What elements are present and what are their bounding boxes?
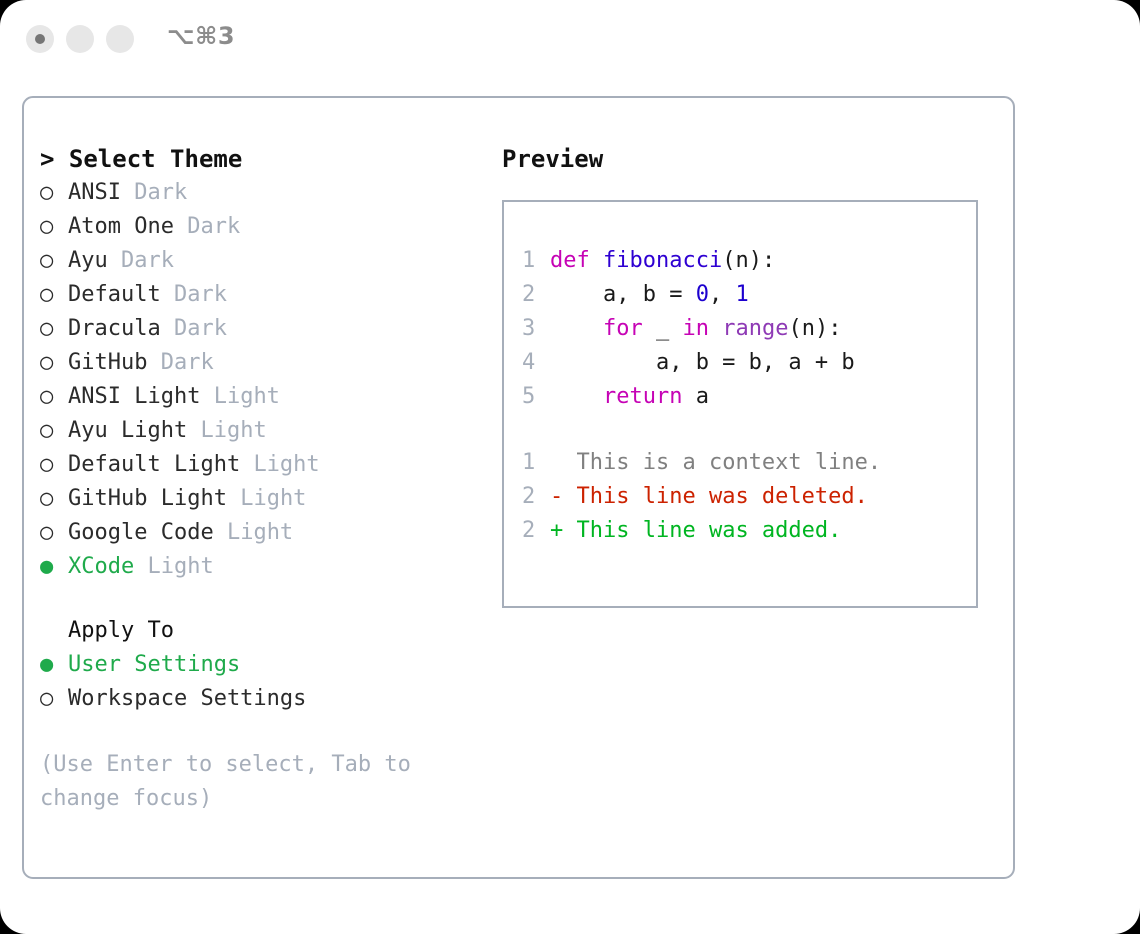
code-token-kw: in — [682, 316, 709, 341]
theme-variant-tag: Light — [200, 418, 266, 443]
window-dot-icon[interactable] — [66, 25, 94, 53]
apply-to-section: Apply To ●User Settings○Workspace Settin… — [40, 614, 480, 716]
theme-option-label: Default — [68, 282, 161, 307]
code-token-plain — [709, 316, 722, 341]
theme-option-label: ANSI Light — [68, 384, 200, 409]
theme-option-list[interactable]: ○ANSI Dark○Atom One Dark○Ayu Dark○Defaul… — [40, 176, 480, 584]
theme-list-column: > Select Theme ○ANSI Dark○Atom One Dark○… — [40, 142, 480, 816]
code-line-number: 5 — [522, 380, 550, 414]
theme-option-default[interactable]: ○Default Dark — [40, 278, 480, 312]
diff-line-ctx: 1 This is a context line. — [522, 446, 976, 480]
apply-to-option-label: User Settings — [68, 652, 240, 677]
theme-variant-tag: Light — [214, 384, 280, 409]
code-token-kw: for — [603, 316, 643, 341]
code-line-number: 3 — [522, 312, 550, 346]
theme-option-ayu-light[interactable]: ○Ayu Light Light — [40, 414, 480, 448]
theme-option-label: ANSI — [68, 180, 121, 205]
code-line-number: 2 — [522, 278, 550, 312]
diff-line-text: This line was added. — [577, 518, 842, 543]
theme-variant-tag: Dark — [161, 350, 214, 375]
radio-unselected-icon: ○ — [40, 312, 68, 346]
title-bar: ⌥⌘3 — [0, 0, 1140, 78]
theme-option-ansi-light[interactable]: ○ANSI Light Light — [40, 380, 480, 414]
code-diff-spacer — [522, 414, 976, 446]
window-dot-active-icon[interactable] — [26, 25, 54, 53]
radio-unselected-icon: ○ — [40, 380, 68, 414]
theme-option-label: GitHub Light — [68, 486, 227, 511]
diff-line-number: 2 — [522, 480, 550, 514]
app-window: ⌥⌘3 > Select Theme ○ANSI Dark○Atom One D… — [0, 0, 1140, 934]
theme-option-label: Google Code — [68, 520, 214, 545]
radio-selected-icon: ● — [40, 550, 68, 584]
select-theme-header: > Select Theme — [40, 142, 480, 176]
theme-variant-tag: Light — [147, 554, 213, 579]
theme-variant-tag: Dark — [174, 282, 227, 307]
theme-option-label: Dracula — [68, 316, 161, 341]
theme-variant-tag: Dark — [134, 180, 187, 205]
theme-variant-tag: Light — [253, 452, 319, 477]
radio-unselected-icon: ○ — [40, 176, 68, 210]
theme-variant-tag: Dark — [121, 248, 174, 273]
code-preview-box: 1def fibonacci(n):2 a, b = 0, 13 for _ i… — [502, 200, 978, 608]
window-dot-active-inner — [35, 34, 45, 44]
diff-line-text: This is a context line. — [577, 450, 882, 475]
radio-unselected-icon: ○ — [40, 414, 68, 448]
theme-variant-tag: Light — [227, 520, 293, 545]
radio-unselected-icon: ○ — [40, 278, 68, 312]
theme-option-label: GitHub — [68, 350, 147, 375]
radio-unselected-icon: ○ — [40, 346, 68, 380]
apply-to-option-list[interactable]: ●User Settings○Workspace Settings — [40, 648, 480, 716]
diff-marker: - — [550, 484, 577, 509]
diff-line-text: This line was deleted. — [577, 484, 868, 509]
preview-column: Preview 1def fibonacci(n):2 a, b = 0, 13… — [502, 142, 992, 608]
code-token-plain: (n): — [788, 316, 841, 341]
code-token-plain: , — [709, 282, 736, 307]
theme-option-label: Ayu — [68, 248, 108, 273]
diff-marker: + — [550, 518, 577, 543]
keyboard-shortcut-label: ⌥⌘3 — [167, 22, 235, 50]
radio-unselected-icon: ○ — [40, 482, 68, 516]
diff-sample: 1 This is a context line.2- This line wa… — [522, 446, 976, 548]
diff-marker — [550, 450, 577, 475]
code-sample: 1def fibonacci(n):2 a, b = 0, 13 for _ i… — [522, 244, 976, 414]
code-token-plain — [550, 384, 603, 409]
theme-option-label: Ayu Light — [68, 418, 187, 443]
apply-to-option-workspace-settings[interactable]: ○Workspace Settings — [40, 682, 480, 716]
theme-option-github[interactable]: ○GitHub Dark — [40, 346, 480, 380]
diff-line-add: 2+ This line was added. — [522, 514, 976, 548]
theme-option-label: XCode — [68, 554, 134, 579]
radio-unselected-icon: ○ — [40, 210, 68, 244]
theme-variant-tag: Dark — [174, 316, 227, 341]
code-token-plain: a — [682, 384, 709, 409]
code-line-number: 4 — [522, 346, 550, 380]
diff-line-number: 2 — [522, 514, 550, 548]
window-dot-icon[interactable] — [106, 25, 134, 53]
code-token-kw: return — [603, 384, 682, 409]
code-line: 5 return a — [522, 380, 976, 414]
code-line: 2 a, b = 0, 1 — [522, 278, 976, 312]
theme-option-atom-one[interactable]: ○Atom One Dark — [40, 210, 480, 244]
code-token-plain: _ — [643, 316, 683, 341]
preview-header: Preview — [502, 142, 992, 176]
theme-option-ayu[interactable]: ○Ayu Dark — [40, 244, 480, 278]
apply-to-option-label: Workspace Settings — [68, 686, 306, 711]
code-line: 1def fibonacci(n): — [522, 244, 976, 278]
radio-selected-icon: ● — [40, 648, 68, 682]
code-token-builtin: range — [722, 316, 788, 341]
code-line-number: 1 — [522, 244, 550, 278]
code-token-kw: def — [550, 248, 603, 273]
code-token-plain — [550, 316, 603, 341]
code-token-plain: a, b = b, a + b — [550, 350, 855, 375]
code-line: 4 a, b = b, a + b — [522, 346, 976, 380]
apply-to-option-user-settings[interactable]: ●User Settings — [40, 648, 480, 682]
theme-option-dracula[interactable]: ○Dracula Dark — [40, 312, 480, 346]
code-token-num: 0 — [696, 282, 709, 307]
theme-option-label: Atom One — [68, 214, 174, 239]
code-line: 3 for _ in range(n): — [522, 312, 976, 346]
theme-option-github-light[interactable]: ○GitHub Light Light — [40, 482, 480, 516]
theme-picker-panel: > Select Theme ○ANSI Dark○Atom One Dark○… — [22, 96, 1015, 879]
radio-unselected-icon: ○ — [40, 448, 68, 482]
radio-unselected-icon: ○ — [40, 682, 68, 716]
radio-unselected-icon: ○ — [40, 516, 68, 550]
code-token-plain: a, b = — [550, 282, 696, 307]
code-token-num: 1 — [735, 282, 748, 307]
radio-unselected-icon: ○ — [40, 244, 68, 278]
diff-line-del: 2- This line was deleted. — [522, 480, 976, 514]
apply-to-header: Apply To — [40, 614, 480, 648]
keyboard-hint-text: (Use Enter to select, Tab to change focu… — [40, 748, 460, 816]
theme-option-xcode[interactable]: ●XCode Light — [40, 550, 480, 584]
code-token-plain: (n): — [722, 248, 775, 273]
diff-line-number: 1 — [522, 446, 550, 480]
theme-option-ansi[interactable]: ○ANSI Dark — [40, 176, 480, 210]
theme-option-google-code[interactable]: ○Google Code Light — [40, 516, 480, 550]
code-token-fn: fibonacci — [603, 248, 722, 273]
theme-variant-tag: Dark — [187, 214, 240, 239]
theme-option-default-light[interactable]: ○Default Light Light — [40, 448, 480, 482]
theme-variant-tag: Light — [240, 486, 306, 511]
theme-option-label: Default Light — [68, 452, 240, 477]
